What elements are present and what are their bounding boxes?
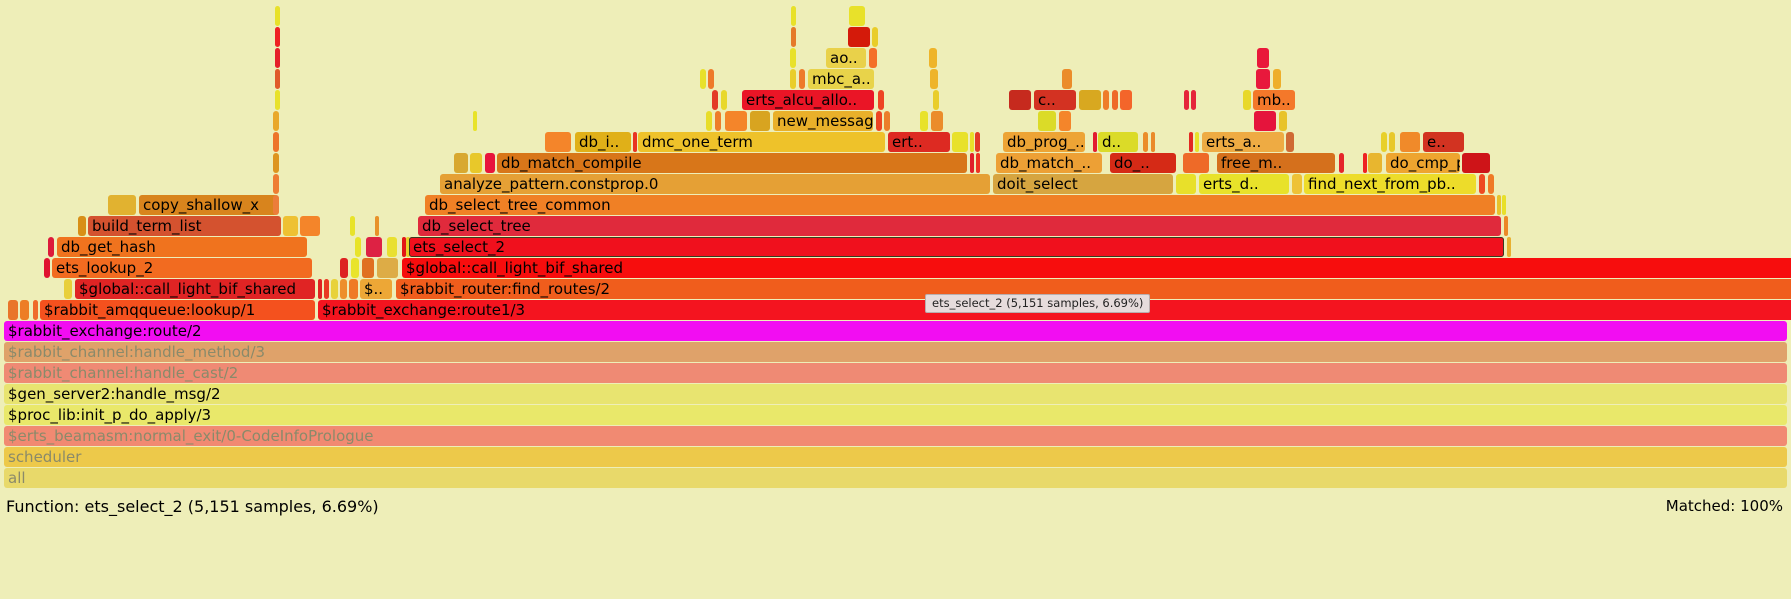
- flame-frame[interactable]: [1368, 153, 1382, 173]
- flame-frame[interactable]: [454, 153, 468, 173]
- flame-frame[interactable]: [975, 132, 980, 152]
- flame-frame-find-next-from-pb[interactable]: find_next_from_pb..: [1304, 174, 1476, 194]
- flame-frame[interactable]: [473, 111, 477, 131]
- flame-frame-rabbit-exchange-route-2[interactable]: $rabbit_exchange:route/2: [4, 321, 1787, 341]
- flame-frame[interactable]: [799, 69, 805, 89]
- frame-tooltip: ets_select_2 (5,151 samples, 6.69%): [925, 294, 1150, 313]
- flame-frame[interactable]: [273, 195, 279, 215]
- flame-frame-erts-d[interactable]: erts_d..: [1199, 174, 1289, 194]
- flame-frame[interactable]: [273, 111, 279, 131]
- flame-frame[interactable]: [64, 279, 72, 299]
- function-status-label: Function: ets_select_2 (5,151 samples, 6…: [6, 497, 379, 516]
- flame-frame-copy-shallow-x[interactable]: copy_shallow_x: [139, 195, 278, 215]
- flame-frame-db-prog[interactable]: db_prog_..: [1003, 132, 1085, 152]
- flame-frame[interactable]: [1176, 174, 1196, 194]
- flame-frame[interactable]: [976, 153, 980, 173]
- flame-frame[interactable]: [1059, 111, 1071, 131]
- flame-frame[interactable]: [1507, 237, 1511, 257]
- flame-frame[interactable]: [351, 258, 359, 278]
- flame-frame-db-match-compile[interactable]: db_match_compile: [497, 153, 967, 173]
- flame-frame-[interactable]: $..: [360, 279, 392, 299]
- flame-frame[interactable]: [1184, 90, 1189, 110]
- flame-frame[interactable]: [970, 153, 974, 173]
- flame-frame[interactable]: [1286, 132, 1294, 152]
- flame-frame[interactable]: [275, 27, 280, 47]
- flame-frame[interactable]: [1189, 132, 1193, 152]
- flame-frame-all[interactable]: all: [4, 468, 1787, 488]
- flame-frame-db-match[interactable]: db_match_..: [996, 153, 1102, 173]
- flame-frame-db-i[interactable]: db_i..: [575, 132, 631, 152]
- flame-frame[interactable]: [933, 90, 939, 110]
- flame-frame[interactable]: [931, 111, 943, 131]
- flame-frame-dmc-one-term[interactable]: dmc_one_term: [638, 132, 885, 152]
- flame-frame[interactable]: [1038, 111, 1056, 131]
- flame-frame-do[interactable]: do_..: [1110, 153, 1176, 173]
- flame-frame-db-get-hash[interactable]: db_get_hash: [57, 237, 307, 257]
- flame-frame-c[interactable]: c..: [1034, 90, 1076, 110]
- flame-frame-global-call-light-bif-shared[interactable]: $global::call_light_bif_shared: [75, 279, 315, 299]
- flame-frame[interactable]: [33, 300, 38, 320]
- flame-frame[interactable]: [1120, 90, 1132, 110]
- flame-frame[interactable]: [349, 279, 358, 299]
- flame-frame[interactable]: [1462, 153, 1490, 173]
- flame-frame[interactable]: [1093, 132, 1097, 152]
- flame-frame[interactable]: [791, 6, 796, 26]
- flame-frame[interactable]: [1479, 174, 1485, 194]
- flame-frame[interactable]: [275, 90, 280, 110]
- flame-frame[interactable]: [470, 153, 482, 173]
- flame-frame[interactable]: [275, 6, 280, 26]
- flame-frame[interactable]: [725, 111, 747, 131]
- flame-frame[interactable]: [878, 90, 884, 110]
- flame-frame-rabbit-amqqueue-lookup-1[interactable]: $rabbit_amqqueue:lookup/1: [40, 300, 315, 320]
- flame-frame[interactable]: [872, 27, 878, 47]
- flame-frame[interactable]: [1279, 111, 1287, 131]
- flame-frame-d[interactable]: d..: [1098, 132, 1138, 152]
- flame-frame[interactable]: [1254, 111, 1276, 131]
- flame-frame[interactable]: [318, 279, 322, 299]
- flame-frame[interactable]: [1273, 69, 1281, 89]
- flame-frame-erts-beamasm-normal-exit-0-codeinfoprologue[interactable]: $erts_beamasm:normal_exit/0-CodeInfoProl…: [4, 426, 1787, 446]
- flame-frame-new-message-b[interactable]: new_message_b..: [773, 111, 873, 131]
- flame-frame[interactable]: [869, 48, 877, 68]
- flame-frame-do-cmp-p[interactable]: do_cmp_p..: [1386, 153, 1460, 173]
- flame-frame[interactable]: [340, 258, 348, 278]
- flame-frame[interactable]: [350, 216, 355, 236]
- flame-frame[interactable]: [1488, 174, 1494, 194]
- flame-frame[interactable]: [1143, 132, 1148, 152]
- flame-frame-analyze-pattern-constprop-0[interactable]: analyze_pattern.constprop.0: [440, 174, 990, 194]
- flame-frame[interactable]: [275, 48, 280, 68]
- flame-frame[interactable]: [362, 258, 374, 278]
- flame-frame-erts-alcu-allo[interactable]: erts_alcu_allo..: [742, 90, 874, 110]
- flame-frame[interactable]: [1112, 90, 1118, 110]
- flame-frame-free-m[interactable]: free_m..: [1217, 153, 1335, 173]
- matched-percent-label: Matched: 100%: [1666, 497, 1783, 515]
- flame-frame[interactable]: [275, 69, 280, 89]
- flame-frame[interactable]: [377, 258, 398, 278]
- flame-frame[interactable]: [1256, 69, 1270, 89]
- flame-frame-ert[interactable]: ert..: [888, 132, 950, 152]
- flame-frame[interactable]: [1339, 153, 1344, 173]
- flame-frame[interactable]: [700, 69, 706, 89]
- flame-frame[interactable]: [952, 132, 968, 152]
- flame-frame[interactable]: [750, 111, 770, 131]
- flame-frame[interactable]: [273, 132, 279, 152]
- flame-frame[interactable]: [1400, 132, 1420, 152]
- flame-frame[interactable]: [721, 90, 727, 110]
- flame-frame[interactable]: [706, 111, 712, 131]
- flame-frame[interactable]: [324, 279, 329, 299]
- flame-frame[interactable]: [1497, 195, 1501, 215]
- flame-frame-global-call-light-bif-shared[interactable]: $global::call_light_bif_shared: [402, 258, 1791, 278]
- flame-frame[interactable]: [485, 153, 495, 173]
- flame-frame[interactable]: [715, 111, 721, 131]
- flame-frame[interactable]: [355, 237, 361, 257]
- flame-frame[interactable]: [48, 237, 54, 257]
- flamegraph-page: { "page": { "background": "#eeeeb8", "wi…: [0, 0, 1791, 599]
- flame-frame[interactable]: [848, 27, 870, 47]
- flame-frame[interactable]: [1502, 195, 1506, 215]
- flame-frame-mbc-a[interactable]: mbc_a..: [808, 69, 874, 89]
- flame-frame[interactable]: [708, 69, 714, 89]
- flame-frame[interactable]: [1079, 90, 1101, 110]
- flame-frame[interactable]: [1009, 90, 1031, 110]
- flame-frame-ets-select-2[interactable]: ets_select_2: [409, 237, 1504, 257]
- flame-frame[interactable]: [375, 216, 379, 236]
- flame-frame[interactable]: [78, 216, 86, 236]
- flame-frame[interactable]: [545, 132, 571, 152]
- flame-frame[interactable]: [930, 69, 938, 89]
- flame-frame[interactable]: [1292, 174, 1302, 194]
- flame-frame[interactable]: [1183, 153, 1209, 173]
- flame-frame-build-term-list[interactable]: build_term_list: [88, 216, 281, 236]
- flame-frame[interactable]: [108, 195, 136, 215]
- flame-frame[interactable]: [8, 300, 18, 320]
- flame-frame[interactable]: [1195, 132, 1199, 152]
- flame-frame[interactable]: [790, 48, 796, 68]
- flame-frame-scheduler[interactable]: scheduler: [4, 447, 1787, 467]
- flame-frame-gen-server2-handle-msg-2[interactable]: $gen_server2:handle_msg/2: [4, 384, 1787, 404]
- flame-frame[interactable]: [331, 279, 338, 299]
- flame-frame-e[interactable]: e..: [1423, 132, 1464, 152]
- flame-frame[interactable]: [273, 174, 279, 194]
- flame-frame-db-select-tree[interactable]: db_select_tree: [418, 216, 1501, 236]
- flame-frame[interactable]: [1103, 90, 1109, 110]
- flame-frame[interactable]: [1191, 90, 1196, 110]
- flame-frame[interactable]: [1062, 69, 1072, 89]
- flame-frame-proc-lib-init-p-do-apply-3[interactable]: $proc_lib:init_p_do_apply/3: [4, 405, 1787, 425]
- flame-frame-rabbit-channel-handle-cast-2[interactable]: $rabbit_channel:handle_cast/2: [4, 363, 1787, 383]
- flame-frame[interactable]: [1381, 132, 1387, 152]
- flame-frame[interactable]: [366, 237, 382, 257]
- flame-frame[interactable]: [20, 300, 29, 320]
- flame-frame-mb[interactable]: mb..: [1253, 90, 1295, 110]
- flame-frame[interactable]: [876, 111, 882, 131]
- flame-frame[interactable]: [920, 111, 928, 131]
- flame-frame[interactable]: [790, 69, 796, 89]
- flame-frame[interactable]: [273, 153, 279, 173]
- flame-frame[interactable]: [1151, 132, 1155, 152]
- flame-frame[interactable]: [970, 132, 974, 152]
- flame-frame[interactable]: [929, 48, 937, 68]
- flame-frame[interactable]: [44, 258, 50, 278]
- flame-frame-ets-lookup-2[interactable]: ets_lookup_2: [52, 258, 312, 278]
- flame-frame-db-select-tree-common[interactable]: db_select_tree_common: [425, 195, 1495, 215]
- flame-frame[interactable]: [1504, 216, 1508, 236]
- flame-frame-ao[interactable]: ao..: [826, 48, 866, 68]
- flame-frame[interactable]: [849, 6, 865, 26]
- flame-frame[interactable]: [1243, 90, 1251, 110]
- flame-frame-rabbit-channel-handle-method-3[interactable]: $rabbit_channel:handle_method/3: [4, 342, 1787, 362]
- flame-frame[interactable]: [300, 216, 320, 236]
- flame-frame-doit-select[interactable]: doit_select: [993, 174, 1173, 194]
- flame-frame[interactable]: [1363, 153, 1367, 173]
- flame-frame[interactable]: [633, 132, 637, 152]
- flame-frame[interactable]: [340, 279, 347, 299]
- flame-frame[interactable]: [387, 237, 397, 257]
- flame-frame[interactable]: [283, 216, 298, 236]
- flame-frame-erts-a[interactable]: erts_a..: [1202, 132, 1284, 152]
- status-bar: Function: ets_select_2 (5,151 samples, 6…: [0, 489, 1791, 599]
- flame-frame[interactable]: [791, 27, 796, 47]
- flame-frame[interactable]: [1257, 48, 1269, 68]
- flame-frame[interactable]: [1389, 132, 1395, 152]
- flamegraph-canvas[interactable]: allscheduler$erts_beamasm:normal_exit/0-…: [0, 0, 1791, 489]
- flame-frame[interactable]: [884, 111, 890, 131]
- flame-frame[interactable]: [712, 90, 718, 110]
